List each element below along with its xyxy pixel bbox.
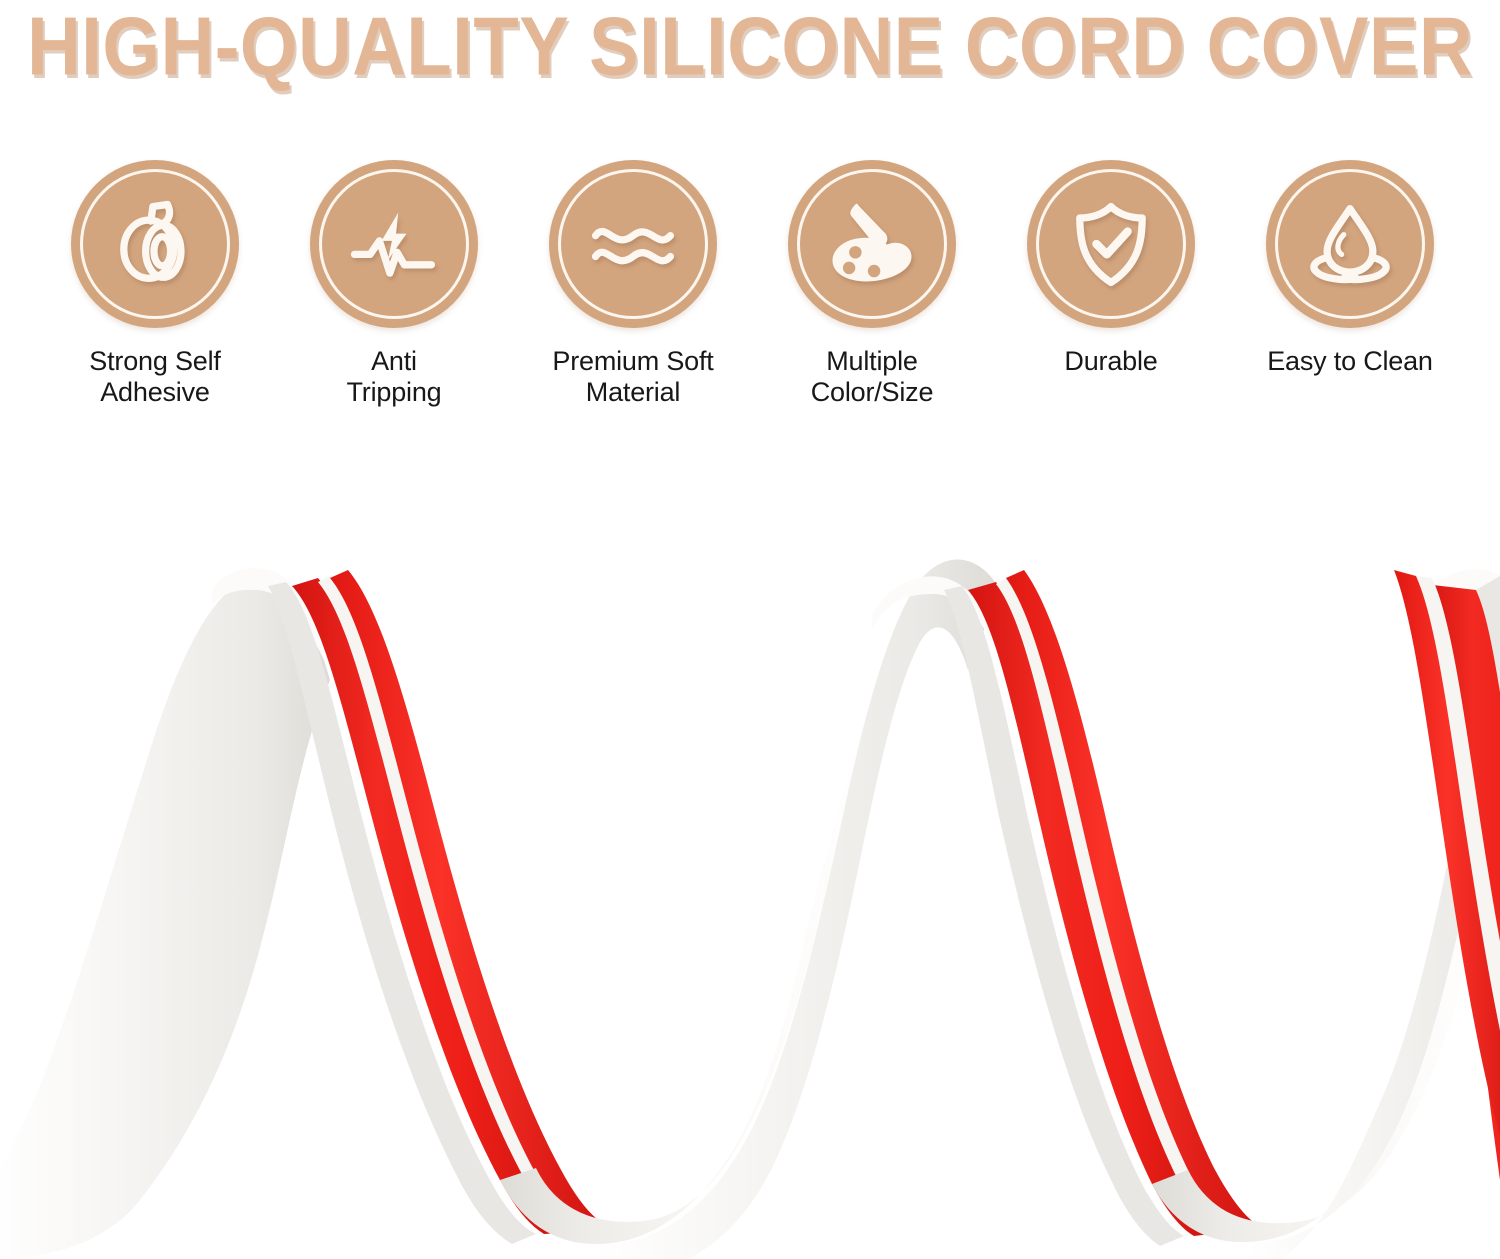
water-drop-ripple-icon: [1298, 192, 1402, 296]
product-photo: [0, 520, 1500, 1259]
feature-item-strong-self-adhesive: Strong Self Adhesive: [55, 160, 255, 409]
feature-badge: [1027, 160, 1195, 328]
feature-badge: [1266, 160, 1434, 328]
lightning-pulse-icon: [342, 192, 446, 296]
feature-label-line1: Multiple: [826, 346, 917, 376]
feature-item-multiple-color-size: Multiple Color/Size: [772, 160, 972, 409]
feature-label: Anti Tripping: [347, 346, 442, 409]
feature-item-anti-tripping: Anti Tripping: [294, 160, 494, 409]
paint-palette-icon: [820, 192, 924, 296]
wavy-lines-icon: [581, 192, 685, 296]
feature-label-line1: Easy to Clean: [1267, 346, 1433, 376]
feature-label: Easy to Clean: [1267, 346, 1433, 377]
feature-label-line2: Tripping: [347, 377, 442, 407]
feature-label-line1: Premium Soft: [552, 346, 713, 376]
cord-cover-wave-illustration: [0, 520, 1500, 1259]
feature-badge: [549, 160, 717, 328]
feature-label-line1: Anti: [371, 346, 417, 376]
tape-roll-icon: [103, 192, 207, 296]
feature-label-line2: Adhesive: [100, 377, 209, 407]
feature-badge: [71, 160, 239, 328]
feature-item-premium-soft-material: Premium Soft Material: [533, 160, 733, 409]
feature-item-durable: Durable: [1011, 160, 1211, 377]
feature-label: Durable: [1064, 346, 1157, 377]
page-title: HIGH-QUALITY SILICONE CORD COVER: [27, 5, 1473, 88]
feature-label-line1: Strong Self: [89, 346, 220, 376]
feature-label-line2: Color/Size: [811, 377, 934, 407]
feature-label: Strong Self Adhesive: [89, 346, 220, 409]
shield-check-icon: [1059, 192, 1163, 296]
feature-label-line1: Durable: [1064, 346, 1157, 376]
feature-badge: [788, 160, 956, 328]
feature-label-line2: Material: [586, 377, 680, 407]
feature-label: Premium Soft Material: [552, 346, 713, 409]
feature-item-easy-to-clean: Easy to Clean: [1250, 160, 1450, 377]
headline-banner: HIGH-QUALITY SILICONE CORD COVER: [0, 0, 1500, 92]
feature-badge: [310, 160, 478, 328]
feature-list: Strong Self Adhesive Anti Tripping: [55, 160, 1450, 409]
feature-label: Multiple Color/Size: [811, 346, 934, 409]
product-infographic: HIGH-QUALITY SILICONE CORD COVER Strong …: [0, 0, 1500, 1259]
